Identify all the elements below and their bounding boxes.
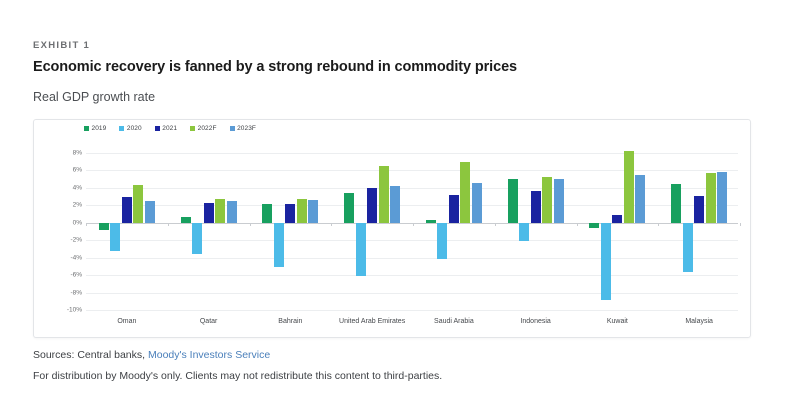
bar-group: [577, 120, 659, 337]
bar-2021[interactable]: [531, 191, 541, 223]
bar-group: [250, 120, 332, 337]
bar-2019[interactable]: [589, 223, 599, 228]
chart-card: 2019202020212022F2023F 8%6%4%2%0%-2%-4%-…: [33, 119, 751, 338]
bar-2020[interactable]: [192, 223, 202, 254]
bar-2022F[interactable]: [215, 199, 225, 223]
x-axis-category-label: Indonesia: [520, 318, 550, 325]
bar-2020[interactable]: [274, 223, 284, 267]
x-axis-category-label: Bahrain: [278, 318, 302, 325]
bar-2023F[interactable]: [635, 175, 645, 223]
bar-group: [658, 120, 740, 337]
bar-2023F[interactable]: [717, 172, 727, 223]
bar-2021[interactable]: [612, 215, 622, 223]
moodys-link[interactable]: Moody's Investors Service: [148, 349, 270, 361]
bar-2021[interactable]: [449, 195, 459, 223]
y-axis-tick-label: 8%: [73, 150, 82, 157]
y-axis-tick-label: -10%: [67, 307, 82, 314]
bar-2019[interactable]: [671, 184, 681, 222]
bar-2023F[interactable]: [227, 201, 237, 223]
y-axis-tick-label: -6%: [70, 272, 82, 279]
bar-2020[interactable]: [110, 223, 120, 251]
bar-2023F[interactable]: [145, 201, 155, 223]
chart-subtitle: Real GDP growth rate: [33, 90, 155, 104]
bar-2021[interactable]: [204, 203, 214, 223]
x-axis-category-label: Oman: [117, 318, 136, 325]
bar-2022F[interactable]: [133, 185, 143, 223]
bar-groups: [86, 120, 738, 337]
bar-2019[interactable]: [344, 193, 354, 223]
bar-2021[interactable]: [367, 188, 377, 223]
chart-plot-area: 8%6%4%2%0%-2%-4%-6%-8%-10% OmanQatarBahr…: [34, 120, 750, 337]
x-axis-tick: [495, 223, 496, 226]
y-axis-tick-label: 4%: [73, 184, 82, 191]
y-axis-tick-label: -8%: [70, 289, 82, 296]
y-axis-tick-label: 6%: [73, 167, 82, 174]
x-axis-tick: [577, 223, 578, 226]
x-axis-category-label: Malaysia: [685, 318, 713, 325]
x-axis-tick: [86, 223, 87, 226]
bar-group: [413, 120, 495, 337]
bar-2021[interactable]: [122, 197, 132, 223]
sources-line: Sources: Central banks, Moody's Investor…: [33, 349, 270, 361]
sources-prefix: Sources: Central banks,: [33, 349, 148, 361]
page-title: Economic recovery is fanned by a strong …: [33, 59, 517, 75]
bar-2019[interactable]: [99, 223, 109, 230]
bar-2022F[interactable]: [706, 173, 716, 223]
bar-2022F[interactable]: [624, 151, 634, 223]
disclaimer-text: For distribution by Moody's only. Client…: [33, 370, 442, 382]
bar-group: [86, 120, 168, 337]
x-axis-category-label: Kuwait: [607, 318, 628, 325]
x-axis-tick: [168, 223, 169, 226]
bar-2019[interactable]: [426, 220, 436, 223]
bar-2019[interactable]: [181, 217, 191, 223]
bar-2023F[interactable]: [472, 183, 482, 223]
x-axis-category-label: Qatar: [200, 318, 218, 325]
y-axis-tick-label: -4%: [70, 254, 82, 261]
y-axis-labels: 8%6%4%2%0%-2%-4%-6%-8%-10%: [52, 120, 82, 337]
bar-2022F[interactable]: [297, 199, 307, 223]
exhibit-label: EXHIBIT 1: [33, 40, 90, 51]
bar-group: [331, 120, 413, 337]
y-axis-tick-label: -2%: [70, 237, 82, 244]
y-axis-tick-label: 2%: [73, 202, 82, 209]
x-axis-tick: [740, 223, 741, 226]
bar-2020[interactable]: [683, 223, 693, 272]
x-axis-category-label: United Arab Emirates: [339, 318, 405, 325]
bar-2023F[interactable]: [554, 179, 564, 223]
bar-2019[interactable]: [262, 204, 272, 223]
bar-2019[interactable]: [508, 179, 518, 223]
y-axis-tick-label: 0%: [73, 219, 82, 226]
x-axis-tick: [658, 223, 659, 226]
bar-2021[interactable]: [285, 204, 295, 223]
bar-2020[interactable]: [601, 223, 611, 301]
bar-group: [168, 120, 250, 337]
x-axis-tick: [331, 223, 332, 226]
bar-2023F[interactable]: [390, 186, 400, 223]
x-axis-category-label: Saudi Arabia: [434, 318, 474, 325]
bar-2021[interactable]: [694, 196, 704, 223]
bar-2022F[interactable]: [379, 166, 389, 223]
bar-2020[interactable]: [437, 223, 447, 259]
exhibit-page: EXHIBIT 1 Economic recovery is fanned by…: [0, 0, 800, 414]
bar-2020[interactable]: [519, 223, 529, 241]
bar-group: [495, 120, 577, 337]
bar-2022F[interactable]: [460, 162, 470, 223]
x-axis-tick: [413, 223, 414, 226]
bar-2023F[interactable]: [308, 200, 318, 223]
x-axis-tick: [250, 223, 251, 226]
bar-2020[interactable]: [356, 223, 366, 276]
bar-2022F[interactable]: [542, 177, 552, 222]
